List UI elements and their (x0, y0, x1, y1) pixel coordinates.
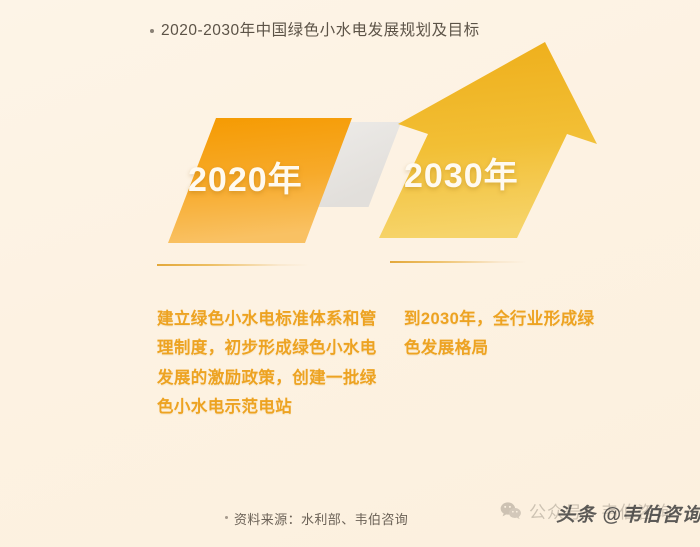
source-note: 资料来源：水利部、韦伯咨询 (225, 509, 408, 528)
toutiao-watermark-text: 头条 @韦伯咨询 (556, 500, 700, 527)
source-note-text: 资料来源：水利部、韦伯咨询 (234, 509, 408, 528)
divider-left (157, 264, 309, 266)
milestone-2030-shape (379, 42, 597, 238)
page-title: 2020-2030年中国绿色小水电发展规划及目标 (150, 22, 480, 41)
milestone-graphic (0, 0, 700, 300)
wechat-watermark: 公众号：韦伯咨询 (500, 498, 673, 523)
divider-right (390, 261, 526, 263)
source-bullet-icon (225, 516, 228, 519)
title-bullet-icon (150, 29, 154, 33)
wechat-watermark-text: 公众号：韦伯咨询 (529, 498, 673, 523)
milestone-2020-shape (168, 118, 352, 243)
milestone-2030-body-text: 到2030年，全行业形成绿色发展格局 (404, 305, 604, 364)
page-title-text: 2020-2030年中国绿色小水电发展规划及目标 (161, 22, 480, 41)
infographic-canvas: 2020-2030年中国绿色小水电发展规划及目标 (0, 0, 700, 547)
milestone-2020-body-text: 建立绿色小水电标准体系和管理制度，初步形成绿色小水电发展的激励政策，创建一批绿色… (157, 305, 379, 422)
wechat-icon (500, 501, 522, 520)
